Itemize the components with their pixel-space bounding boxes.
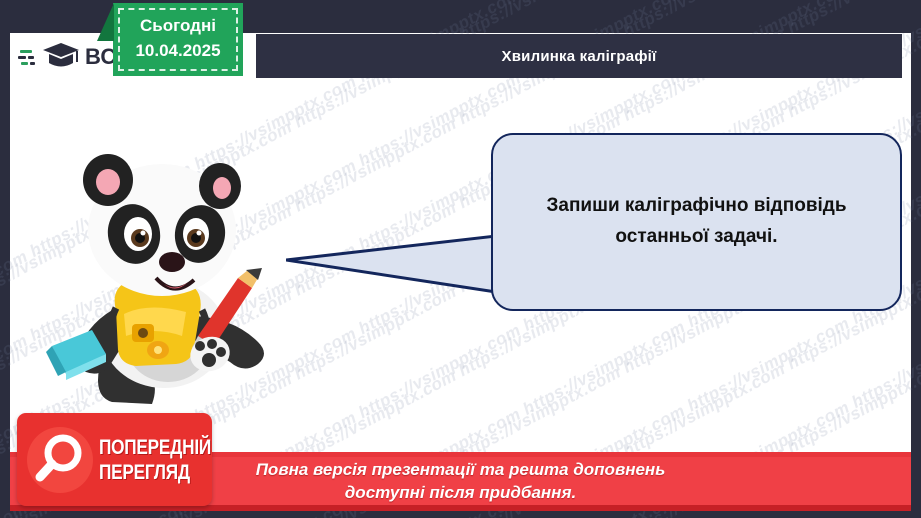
preview-badge-labels: ПОПЕРЕДНІЙ ПЕРЕГЛЯД (99, 437, 236, 483)
magnifier-icon (27, 427, 93, 493)
speech-bubble-tail (286, 234, 498, 294)
speech-bubble: Запиши каліграфічно відповідь останньої … (286, 133, 902, 313)
today-date-ribbon: Сьогодні 10.04.2025 (113, 3, 243, 76)
speech-bubble-text: Запиши каліграфічно відповідь останньої … (493, 191, 900, 253)
speech-bubble-body: Запиши каліграфічно відповідь останньої … (491, 133, 902, 311)
panda-character-illustration (24, 138, 304, 413)
ribbon-fold (97, 3, 114, 41)
slide-canvas: https://vsimpptx.com https://vsimpptx.co… (0, 0, 921, 518)
panda-head (83, 154, 241, 296)
slide-header-bar: Хвилинка каліграфії (256, 34, 902, 78)
ribbon-label: Сьогодні (113, 14, 243, 39)
speed-lines-icon (18, 43, 40, 71)
preview-badge-line-2: ПЕРЕГЛЯД (99, 462, 211, 483)
ribbon-content: Сьогодні 10.04.2025 (113, 3, 243, 63)
preview-badge-line-1: ПОПЕРЕДНІЙ (99, 437, 211, 458)
graduation-cap-icon (41, 39, 81, 76)
page-title: Хвилинка каліграфії (502, 48, 657, 65)
preview-badge[interactable]: ПОПЕРЕДНІЙ ПЕРЕГЛЯД (17, 413, 212, 506)
footer-line-1: Повна версія презентації та решта доповн… (256, 459, 666, 482)
footer-line-2: доступні після придбання. (345, 482, 576, 505)
ribbon-date: 10.04.2025 (113, 39, 243, 64)
